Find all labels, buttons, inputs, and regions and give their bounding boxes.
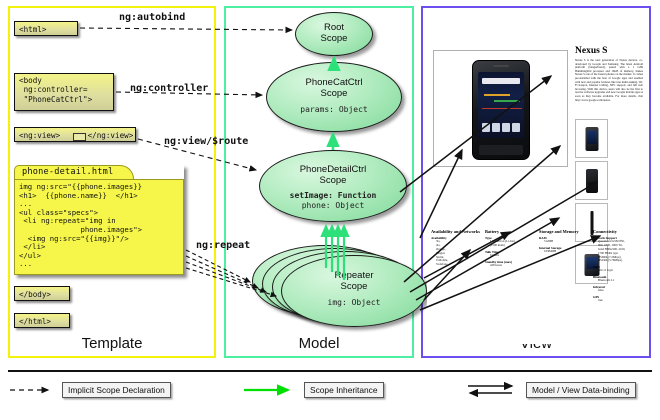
- scope-root: Root Scope: [295, 12, 373, 56]
- product-title: Nexus S: [575, 46, 643, 56]
- legend-double-arrow-icon: [466, 381, 520, 399]
- sticky-note-code: img ng:src="{{phone.images}} <h1> {{phon…: [14, 179, 184, 275]
- hero-image-frame: [433, 50, 568, 167]
- screen-app-icons: [482, 123, 520, 134]
- legend-item-data-binding: Model / View Data-binding: [466, 381, 636, 399]
- legend-label-implicit-scope: Implicit Scope Declaration: [62, 382, 171, 398]
- spec-column: Availability and Networks Availability 3…: [431, 229, 481, 302]
- screen-line-2: [494, 100, 520, 102]
- legend-label-scope-inheritance: Scope Inheritance: [304, 382, 384, 398]
- screen-line-1: [484, 94, 510, 96]
- legend-green-arrow-icon: [242, 383, 298, 397]
- screen-line-3: [482, 108, 522, 109]
- spec-value: true: [593, 299, 643, 303]
- code-tag-body-open: <body ng:controller= "PhoneCatCtrl">: [14, 73, 114, 111]
- spec-column: Storage and Memory RAM 512MB Internal St…: [539, 229, 589, 302]
- spec-value: 802.11 b/g/n: [593, 269, 643, 273]
- connector-label-controller: ng:controller: [130, 83, 208, 94]
- scope-phonedetailctrl-label: PhoneDetailCtrl Scope: [260, 164, 406, 186]
- rendered-view-page: Nexus S Nexus S is the next generation o…: [427, 14, 645, 344]
- spec-header: Connectivity: [593, 229, 643, 234]
- spec-column: Connectivity Network Support Quad-band G…: [593, 229, 643, 302]
- code-tag-html-open: <html>: [14, 21, 78, 36]
- spec-value: Bluetooth 2.1: [593, 279, 643, 283]
- phone-url-bar: [482, 78, 520, 84]
- connector-label-repeat: ng:repeat: [196, 240, 250, 251]
- spec-header: Availability and Networks: [431, 229, 481, 234]
- product-description-block: Nexus S Nexus S is the next generation o…: [575, 46, 643, 102]
- spec-value: 6 hours: [485, 254, 535, 258]
- spec-header: Battery: [485, 229, 535, 234]
- legend-label-data-binding: Model / View Data-binding: [526, 382, 636, 398]
- scope-phonedetailctrl-prop-phone: phone: Object: [260, 201, 406, 211]
- thumbnail-phone-front[interactable]: [575, 119, 608, 158]
- legend-dashed-arrow-icon: [8, 383, 56, 397]
- spec-value: 428 hours: [485, 264, 535, 268]
- phone-screen: [478, 72, 524, 138]
- sticky-note-phone-detail: phone-detail.html img ng:src="{{phone.im…: [14, 165, 184, 275]
- scope-phonecatctrl-label: PhoneCatCtrl Scope: [267, 77, 401, 99]
- product-description: Nexus S is the next generation of Nexus …: [575, 59, 643, 102]
- legend-item-scope-inheritance: Scope Inheritance: [242, 381, 384, 399]
- connector-label-autobind: ng:autobind: [119, 12, 185, 23]
- spec-value: false: [593, 289, 643, 293]
- thumbnail-phone-back[interactable]: [575, 161, 608, 200]
- spec-value: Quad-band GSM 850, 900, 1800, 1900 Tri- …: [593, 240, 643, 263]
- spec-value: 16384MB: [539, 250, 589, 254]
- phone-home-bar: [479, 145, 523, 155]
- panel-title-template: Template: [10, 335, 214, 352]
- sticky-note-title: phone-detail.html: [22, 167, 113, 177]
- code-tag-body-close: </body>: [14, 286, 70, 301]
- ngview-slot-icon: [73, 133, 86, 141]
- spec-column: Battery Type Lithium Ion (Li-Ion) (1500 …: [485, 229, 535, 302]
- spec-value: 512MB: [539, 240, 589, 244]
- scope-phonedetailctrl: PhoneDetailCtrl Scope setImage: Function…: [259, 150, 407, 222]
- scope-repeater-label: Repeater Scope: [282, 270, 426, 292]
- phone-speaker: [493, 65, 509, 67]
- connector-label-route: ng:view/$route: [164, 136, 248, 147]
- code-tag-html-close: </html>: [14, 313, 70, 328]
- spec-value: 3G, 4G, Orange, Singtel, Sprint, T-Mobil…: [431, 240, 481, 267]
- scope-phonedetailctrl-prop-setimage: setImage: Function: [260, 191, 406, 201]
- legend-item-implicit-scope: Implicit Scope Declaration: [8, 381, 171, 399]
- legend-divider: [8, 370, 652, 372]
- panel-title-model: Model: [226, 335, 412, 352]
- spec-header: Storage and Memory: [539, 229, 589, 234]
- scope-phonecatctrl: PhoneCatCtrl Scope params: Object: [266, 62, 402, 132]
- scope-phonecatctrl-prop: params: Object: [267, 105, 401, 115]
- scope-root-label: Root Scope: [296, 22, 372, 44]
- scope-repeater: Repeater Scope img: Object: [281, 255, 427, 327]
- spec-table: Availability and Networks Availability 3…: [431, 229, 643, 302]
- hero-phone-image: [472, 60, 530, 160]
- spec-value: Lithium Ion (Li-Ion) (1500 mAh): [485, 240, 535, 248]
- scope-repeater-prop: img: Object: [282, 298, 426, 308]
